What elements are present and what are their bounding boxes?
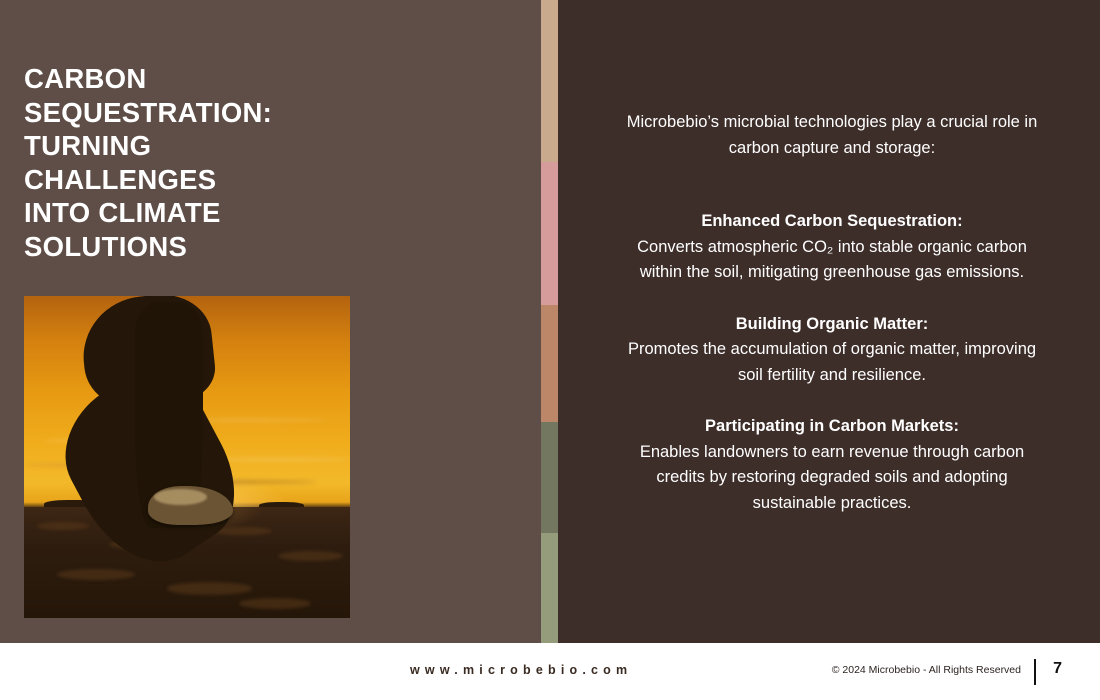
block-heading: Building Organic Matter: [620, 312, 1044, 338]
accent-color-strip [541, 0, 558, 643]
soil-clod [239, 598, 311, 609]
block-body: Converts atmospheric CO₂ into stable org… [620, 235, 1044, 286]
accent-band-sage [541, 533, 558, 643]
block-heading: Enhanced Carbon Sequestration: [620, 209, 1044, 235]
sunset-walking-legs-photo [24, 296, 350, 618]
block-body: Enables landowners to earn revenue throu… [620, 440, 1044, 517]
shoe-highlight [154, 489, 206, 505]
block-body: Promotes the accumulation of organic mat… [620, 337, 1044, 388]
page-number: 7 [1053, 660, 1062, 678]
accent-band-terracotta [541, 305, 558, 422]
soil-clod [57, 569, 135, 580]
soil-clod [167, 582, 252, 594]
footer: www.microbebio.com © 2024 Microbebio - A… [0, 643, 1100, 700]
soil-clod [278, 551, 343, 561]
page-title: CARBON SEQUESTRATION: TURNING CHALLENGES… [24, 62, 444, 263]
footer-divider [1034, 659, 1036, 685]
accent-band-olive [541, 422, 558, 533]
content-body: Microbebio’s microbial technologies play… [620, 110, 1044, 516]
left-title-panel: CARBON SEQUESTRATION: TURNING CHALLENGES… [0, 0, 541, 643]
accent-band-pink [541, 162, 558, 305]
footer-copyright: © 2024 Microbebio - All Rights Reserved [832, 664, 1021, 676]
content-block: Enhanced Carbon Sequestration: Converts … [620, 209, 1044, 286]
slide: CARBON SEQUESTRATION: TURNING CHALLENGES… [0, 0, 1100, 700]
right-content-panel: Microbebio’s microbial technologies play… [558, 0, 1100, 643]
content-block: Participating in Carbon Markets: Enables… [620, 414, 1044, 516]
block-heading: Participating in Carbon Markets: [620, 414, 1044, 440]
footer-website-url[interactable]: www.microbebio.com [410, 663, 632, 677]
photo-sky [24, 296, 350, 618]
accent-band-tan [541, 0, 558, 162]
content-block: Building Organic Matter: Promotes the ac… [620, 312, 1044, 389]
intro-paragraph: Microbebio’s microbial technologies play… [620, 110, 1044, 161]
soil-clod [37, 522, 89, 530]
